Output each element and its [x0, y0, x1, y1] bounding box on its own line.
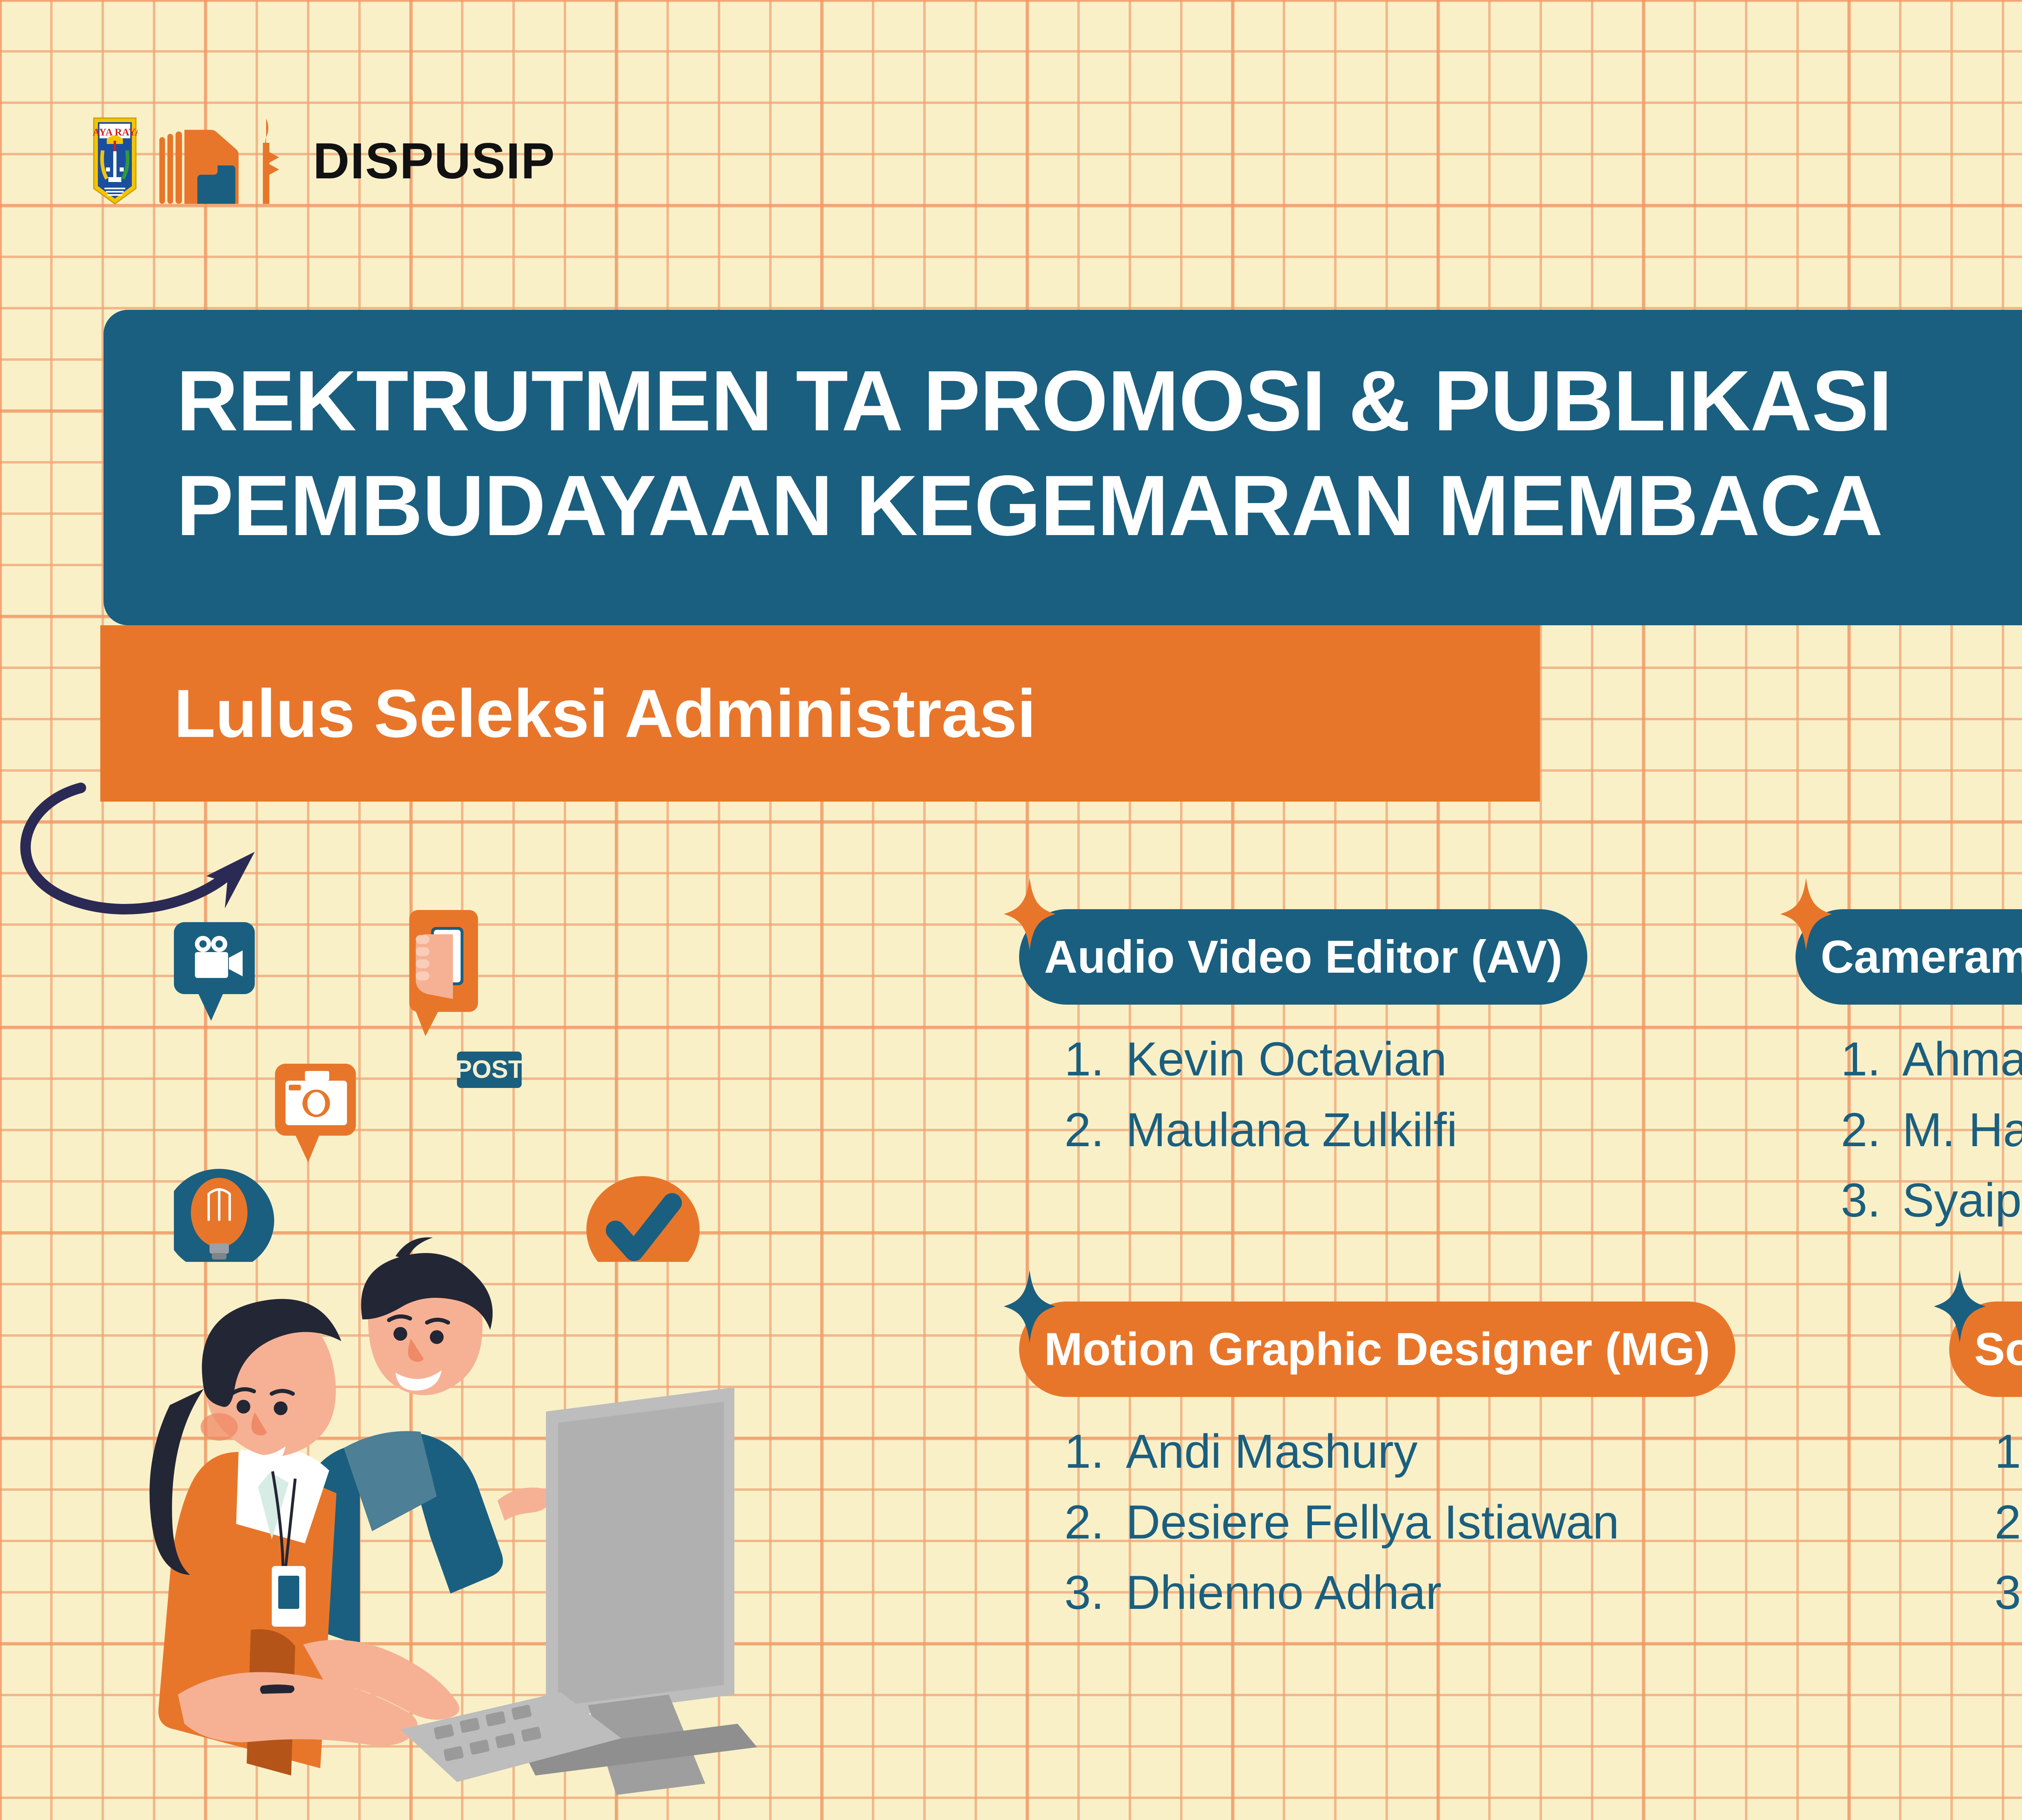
badge-cameraman[interactable]: Cameraman (CM) — [1796, 909, 2022, 1005]
list-number: 3. — [1995, 1558, 2022, 1628]
badge-label: Cameraman (CM) — [1821, 931, 2022, 984]
sparkle-icon — [1780, 878, 1832, 950]
sparkle-icon — [1934, 1270, 1986, 1343]
page-title: REKTRUTMEN TA PROMOSI & PUBLIKASI PEMBUD… — [176, 349, 2022, 558]
poster-canvas: JAYA RAYA — [0, 0, 2022, 1820]
list-number: 1. — [1995, 1416, 2022, 1487]
name-list-cm: 1. Ahmad Irsyadi 2. M. Haryo Pratomo 3. … — [1796, 1024, 2022, 1236]
media-icon-cluster: POST — [174, 910, 740, 1262]
badge-audio-video-editor[interactable]: Audio Video Editor (AV) — [1019, 909, 1587, 1005]
list-number: 1. — [1064, 1416, 1126, 1487]
list-number: 1. — [1841, 1024, 1902, 1095]
title-line-2: PEMBUDAYAAN KEGEMARAN MEMBACA — [176, 453, 2022, 558]
list-name: Andi Mashury — [1126, 1416, 1417, 1487]
subtitle-banner: Lulus Seleksi Administrasi — [100, 625, 1540, 802]
list-item: 2. Maulana Zulkilfi — [1064, 1095, 1587, 1166]
title-line-1: REKTRUTMEN TA PROMOSI & PUBLIKASI — [176, 349, 2022, 453]
list-item: 3. Syaipul Amin — [1841, 1165, 2022, 1236]
list-number: 3. — [1064, 1558, 1126, 1628]
sparkle-icon — [1004, 878, 1055, 950]
list-item: 1. Kevin Octavian — [1064, 1024, 1587, 1095]
category-cameraman: Cameraman (CM) 1. Ahmad Irsyadi 2. M. Ha… — [1796, 909, 2022, 1236]
people-at-computer-illustration — [117, 1221, 886, 1812]
badge-label: Audio Video Editor (AV) — [1044, 931, 1562, 984]
list-name: Dhienno Adhar — [1126, 1558, 1442, 1628]
category-motion-graphic-designer: Motion Graphic Designer (MG) 1. Andi Mas… — [1019, 1302, 1735, 1628]
category-audio-video-editor: Audio Video Editor (AV) 1. Kevin Octavia… — [1019, 909, 1587, 1165]
badge-label: Motion Graphic Designer (MG) — [1044, 1323, 1710, 1376]
subtitle-text: Lulus Seleksi Administrasi — [100, 675, 1036, 753]
list-number: 1. — [1064, 1024, 1126, 1095]
sparkle-icon — [1004, 1270, 1055, 1343]
list-number: 2. — [1995, 1487, 2022, 1558]
dispusip-logo-icon — [159, 118, 292, 205]
name-list-mg: 1. Andi Mashury 2. Desiere Fellya Istiaw… — [1019, 1416, 1735, 1628]
list-number: 2. — [1841, 1095, 1902, 1166]
list-item: 2. Sultan Barelvi — [1995, 1487, 2022, 1558]
jakarta-emblem-icon: JAYA RAYA — [92, 116, 137, 205]
title-banner: REKTRUTMEN TA PROMOSI & PUBLIKASI PEMBUD… — [104, 310, 2022, 625]
list-item: 3. Dhienno Adhar — [1064, 1558, 1735, 1628]
list-item: 3. Zulfa Handayani Putri — [1995, 1558, 2022, 1628]
header-logo-row: JAYA RAYA — [92, 116, 556, 205]
list-name: Desiere Fellya Istiawan — [1126, 1487, 1619, 1558]
phone-in-hand-icon — [409, 910, 478, 1036]
list-number: 3. — [1841, 1165, 1902, 1236]
name-list-av: 1. Kevin Octavian 2. Maulana Zulkilfi — [1019, 1024, 1587, 1165]
list-name: Maulana Zulkilfi — [1126, 1095, 1457, 1166]
list-item: 1. Kila Adikara — [1995, 1416, 2022, 1487]
list-item: 2. Desiere Fellya Istiawan — [1064, 1487, 1735, 1558]
post-badge-label: POST — [455, 1056, 524, 1084]
list-item: 1. Andi Mashury — [1064, 1416, 1735, 1487]
video-camera-icon — [174, 922, 255, 1021]
brand-wordmark: DISPUSIP — [313, 136, 556, 186]
photo-camera-icon — [275, 1064, 356, 1162]
list-name: Kevin Octavian — [1126, 1024, 1447, 1095]
list-number: 2. — [1064, 1487, 1126, 1558]
list-item: 2. M. Haryo Pratomo — [1841, 1095, 2022, 1166]
list-name: M. Haryo Pratomo — [1902, 1095, 2022, 1166]
list-number: 2. — [1064, 1095, 1126, 1166]
name-list-sm: 1. Kila Adikara 2. Sultan Barelvi 3. Zul… — [1949, 1416, 2022, 1628]
list-name: Syaipul Amin — [1902, 1165, 2022, 1236]
badge-motion-graphic-designer[interactable]: Motion Graphic Designer (MG) — [1019, 1302, 1735, 1397]
list-name: Ahmad Irsyadi — [1902, 1024, 2022, 1095]
post-badge: POST — [455, 1052, 524, 1088]
list-item: 1. Ahmad Irsyadi — [1841, 1024, 2022, 1095]
category-social-media-specialist: Social Media Specialist (SM) 1. Kila Adi… — [1949, 1302, 2022, 1628]
badge-social-media-specialist[interactable]: Social Media Specialist (SM) — [1949, 1302, 2022, 1397]
